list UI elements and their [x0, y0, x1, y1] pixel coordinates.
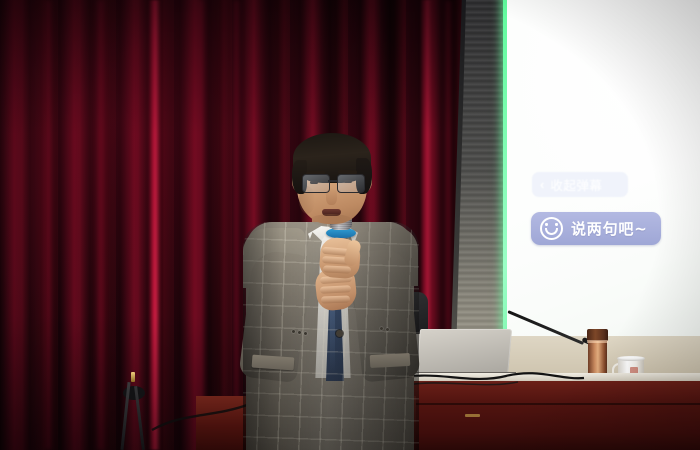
- jacket-button: [336, 330, 343, 337]
- jacket-pocket-right: [370, 353, 411, 368]
- speaker-figure: [0, 0, 700, 450]
- lens-right: [337, 174, 365, 193]
- stage-photo-scene: ‹ 收起弹幕 说两句吧~: [0, 0, 700, 450]
- nose: [326, 188, 337, 205]
- glasses-bridge: [328, 180, 338, 182]
- chin-shading: [310, 214, 352, 226]
